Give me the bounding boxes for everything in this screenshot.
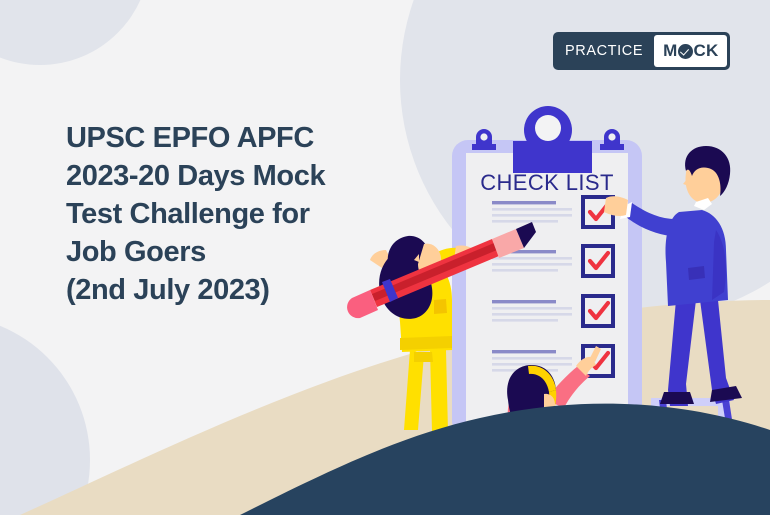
woman-leg-front <box>430 350 448 432</box>
man-shoe-back <box>660 392 694 404</box>
logo-mock-prefix: M <box>663 41 677 61</box>
woman-belt <box>400 336 452 350</box>
logo-practice-text: PRACTICE <box>556 35 654 67</box>
man-jacket-pocket <box>688 266 705 280</box>
clipboard-clip <box>513 106 592 173</box>
logo-mock-text: MCK <box>654 35 727 67</box>
foreground-hill <box>240 404 770 515</box>
woman-pocket <box>434 299 447 314</box>
banner-canvas: CHECK LIST <box>0 0 770 515</box>
man-hand <box>604 196 628 216</box>
page-title: UPSC EPFO APFC 2023-20 Days Mock Test Ch… <box>66 119 406 309</box>
woman-leg-shadow <box>414 352 433 362</box>
checklist-title: CHECK LIST <box>480 170 614 195</box>
practicemock-logo[interactable]: PRACTICE MCK <box>553 32 730 70</box>
check-circle-icon <box>678 44 693 59</box>
logo-mock-suffix: CK <box>694 41 719 61</box>
man-leg-back <box>668 300 696 406</box>
